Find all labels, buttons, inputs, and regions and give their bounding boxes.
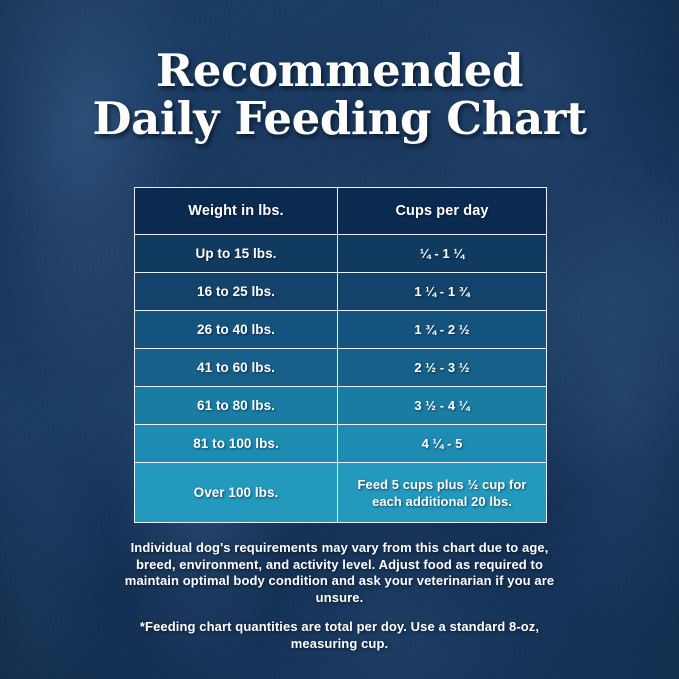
cell-cups: 3 ½ - 4 ¼ <box>338 387 547 425</box>
footer-disclaimer: Individual dog's requirements may vary f… <box>120 540 559 652</box>
column-header-weight: Weight in lbs. <box>135 188 338 235</box>
cell-cups: ¼ - 1 ¼ <box>338 235 547 273</box>
table-body: Up to 15 lbs. ¼ - 1 ¼ 16 to 25 lbs. 1 ¼ … <box>135 235 547 523</box>
cell-weight: 16 to 25 lbs. <box>135 273 338 311</box>
cell-weight: 41 to 60 lbs. <box>135 349 338 387</box>
page-title: Recommended Daily Feeding Chart <box>0 47 679 143</box>
cell-weight: 61 to 80 lbs. <box>135 387 338 425</box>
cell-cups: 1 ¼ - 1 ¾ <box>338 273 547 311</box>
cell-weight: 26 to 40 lbs. <box>135 311 338 349</box>
feeding-chart-page: Recommended Daily Feeding Chart Weight i… <box>0 0 679 679</box>
cell-cups: 2 ½ - 3 ½ <box>338 349 547 387</box>
cell-cups: 4 ¼ - 5 <box>338 425 547 463</box>
table-row: 81 to 100 lbs. 4 ¼ - 5 <box>135 425 547 463</box>
table-row: 16 to 25 lbs. 1 ¼ - 1 ¾ <box>135 273 547 311</box>
page-title-line-1: Recommended <box>0 47 679 95</box>
footer-paragraph-1: Individual dog's requirements may vary f… <box>120 540 559 606</box>
cell-cups: Feed 5 cups plus ½ cup for each addition… <box>338 463 547 523</box>
table-row: 41 to 60 lbs. 2 ½ - 3 ½ <box>135 349 547 387</box>
feeding-chart-table: Weight in lbs. Cups per day Up to 15 lbs… <box>134 187 547 523</box>
cell-weight: 81 to 100 lbs. <box>135 425 338 463</box>
table-header-row: Weight in lbs. Cups per day <box>135 188 547 235</box>
table-row: Up to 15 lbs. ¼ - 1 ¼ <box>135 235 547 273</box>
column-header-cups: Cups per day <box>338 188 547 235</box>
cell-cups: 1 ¾ - 2 ½ <box>338 311 547 349</box>
cell-weight: Up to 15 lbs. <box>135 235 338 273</box>
table-header: Weight in lbs. Cups per day <box>135 188 547 235</box>
page-title-line-2: Daily Feeding Chart <box>0 95 679 143</box>
table-row: Over 100 lbs. Feed 5 cups plus ½ cup for… <box>135 463 547 523</box>
table-row: 61 to 80 lbs. 3 ½ - 4 ¼ <box>135 387 547 425</box>
cell-weight: Over 100 lbs. <box>135 463 338 523</box>
table-row: 26 to 40 lbs. 1 ¾ - 2 ½ <box>135 311 547 349</box>
footer-paragraph-2: *Feeding chart quantities are total per … <box>120 619 559 652</box>
